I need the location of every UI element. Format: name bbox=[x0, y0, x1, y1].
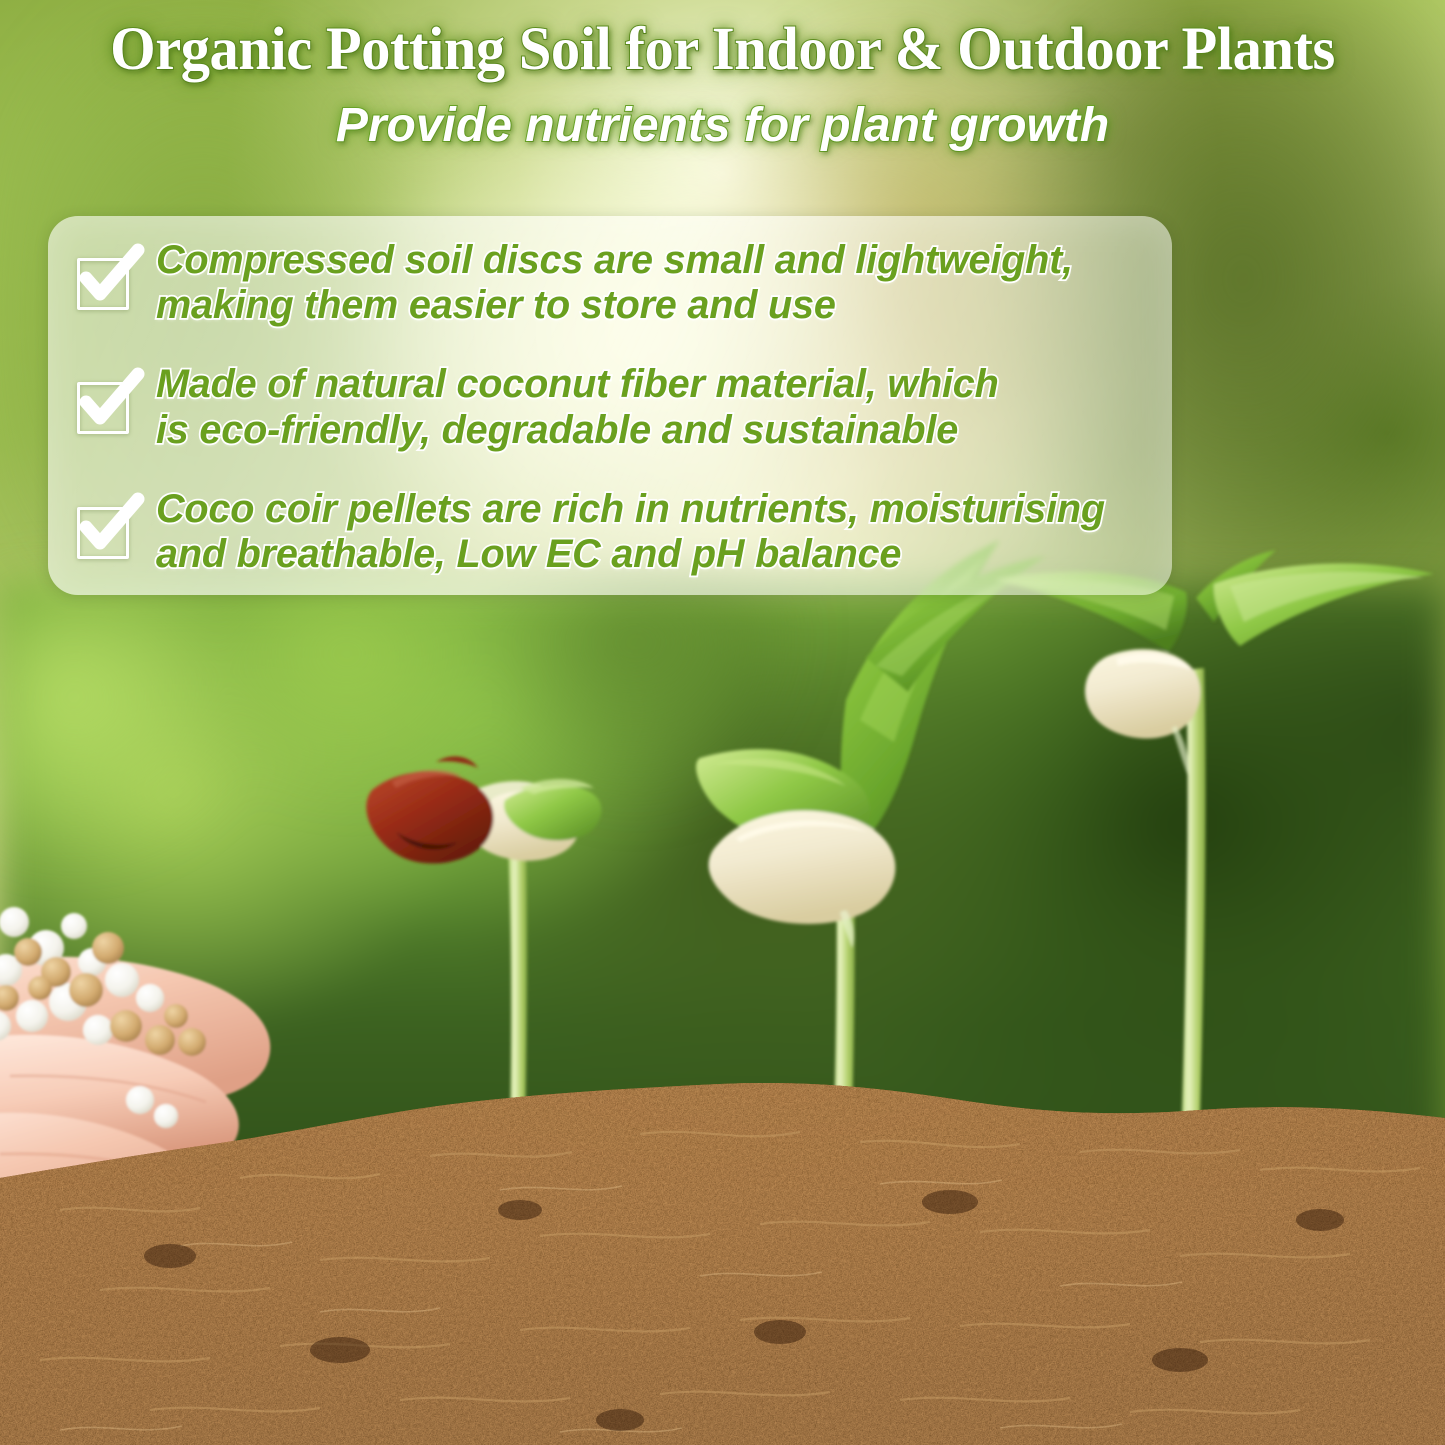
feature-line-2: is eco-friendly, degradable and sustaina… bbox=[156, 408, 999, 453]
page-title: Organic Potting Soil for Indoor & Outdoo… bbox=[29, 0, 1416, 82]
coco-coir-soil-mound bbox=[0, 1060, 1445, 1445]
list-item: Made of natural coconut fiber material, … bbox=[74, 362, 1146, 452]
feature-list-panel: Compressed soil discs are small and ligh… bbox=[48, 216, 1172, 595]
list-item: Compressed soil discs are small and ligh… bbox=[74, 238, 1146, 328]
feature-line-1: Made of natural coconut fiber material, … bbox=[156, 362, 999, 406]
feature-text: Made of natural coconut fiber material, … bbox=[156, 362, 999, 452]
feature-line-1: Compressed soil discs are small and ligh… bbox=[156, 238, 1073, 282]
header: Organic Potting Soil for Indoor & Outdoo… bbox=[0, 0, 1445, 153]
feature-text: Coco coir pellets are rich in nutrients,… bbox=[156, 487, 1105, 577]
page-subtitle: Provide nutrients for plant growth bbox=[0, 98, 1445, 153]
checkbox-checked-icon bbox=[74, 497, 134, 559]
checkbox-checked-icon bbox=[74, 372, 134, 434]
feature-text: Compressed soil discs are small and ligh… bbox=[156, 238, 1073, 328]
feature-line-2: making them easier to store and use bbox=[156, 283, 1073, 328]
list-item: Coco coir pellets are rich in nutrients,… bbox=[74, 487, 1146, 577]
checkbox-checked-icon bbox=[74, 248, 134, 310]
feature-line-2: and breathable, Low EC and pH balance bbox=[156, 532, 1105, 577]
product-marketing-image: Organic Potting Soil for Indoor & Outdoo… bbox=[0, 0, 1445, 1445]
feature-line-1: Coco coir pellets are rich in nutrients,… bbox=[156, 487, 1105, 531]
